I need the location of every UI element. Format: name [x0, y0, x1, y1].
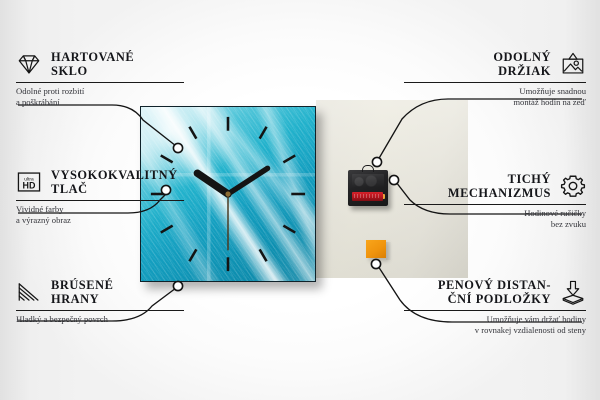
beveled-edge-icon	[16, 279, 42, 305]
picture-hanger-icon	[560, 51, 586, 77]
connector-holder	[378, 99, 582, 160]
feature-durable-holder: Odolný držiak Umožňuje snadnou montáž ho…	[404, 50, 586, 108]
diamond-icon	[16, 51, 42, 77]
feature-silent-mechanism: Tichý mechanizmus Hodinové ručičky bez z…	[404, 172, 586, 230]
divider	[16, 200, 184, 201]
feature-title: Hartované sklo	[51, 50, 134, 79]
connector-dot-holder	[372, 157, 381, 166]
connector-dot-foam	[371, 259, 380, 268]
feature-foam-spacers: Penový distan- ční podložky Umožňuje vám…	[404, 278, 586, 336]
feature-desc: Hladký a bezpečný povrch	[16, 314, 184, 325]
feature-desc: Umožňuje vám držať hodiny v rovnakej vzd…	[404, 314, 586, 336]
feature-hardened-glass: Hartované sklo Odolné proti rozbití a po…	[16, 50, 184, 108]
feature-title: Penový distan- ční podložky	[438, 278, 551, 307]
feature-desc: Vividné farby a výrazný obraz	[16, 204, 184, 226]
divider	[16, 310, 184, 311]
divider	[16, 82, 184, 83]
feature-title: Brúsené hrany	[51, 278, 113, 307]
divider	[404, 204, 586, 205]
divider	[404, 82, 586, 83]
feature-desc: Hodinové ručičky bez zvuku	[404, 208, 586, 230]
infographic-canvas: Hartované sklo Odolné proti rozbití a po…	[0, 0, 600, 400]
divider	[404, 310, 586, 311]
connector-dot-glass	[173, 143, 182, 152]
feature-quality-print: ultra HD Vysokokvalitný tlač Vividné far…	[16, 168, 184, 226]
ultra-hd-icon: ultra HD	[16, 169, 42, 195]
connector-dot-mechanism	[389, 175, 398, 184]
feature-desc: Umožňuje snadnou montáž hodin na zeď	[404, 86, 586, 108]
gear-icon	[560, 173, 586, 199]
feature-desc: Odolné proti rozbití a poškrábání	[16, 86, 184, 108]
feature-title: Odolný držiak	[493, 50, 551, 79]
connector-glass	[18, 105, 176, 146]
feature-title: Tichý mechanizmus	[448, 172, 551, 201]
press-pad-icon	[560, 279, 586, 305]
ultra-hd-icon-main: HD	[23, 181, 36, 191]
feature-title: Vysokokvalitný tlač	[51, 168, 178, 197]
feature-ground-edges: Brúsené hrany Hladký a bezpečný povrch	[16, 278, 184, 325]
